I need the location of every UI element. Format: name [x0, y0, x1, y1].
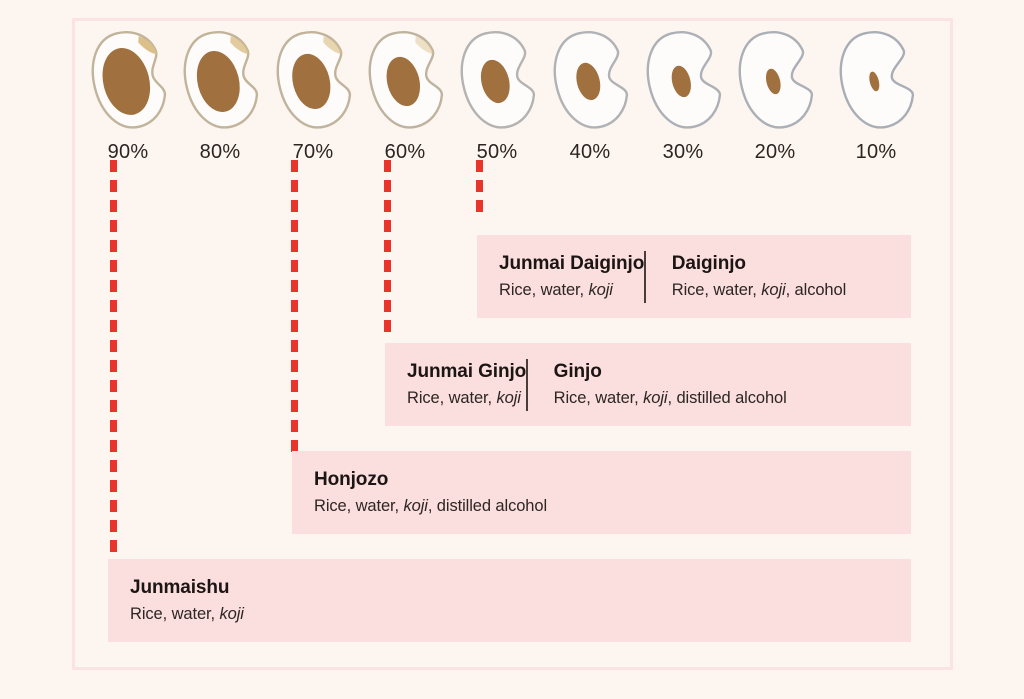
band-title-ginjo-1: Ginjo — [554, 361, 787, 383]
band-entry-daiginjo-1: DaiginjoRice, water, koji, alcohol — [646, 253, 846, 300]
band-ingredients-honjozo-0: Rice, water, koji, distilled alcohol — [314, 497, 547, 516]
band-entry-honjozo-0: HonjozoRice, water, koji, distilled alco… — [292, 469, 547, 516]
rice-grain-60 — [362, 26, 448, 134]
rice-grain-row — [0, 0, 1024, 140]
band-entry-daiginjo-0: Junmai DaiginjoRice, water, koji — [477, 253, 644, 300]
rice-grain-80 — [177, 26, 263, 134]
band-title-honjozo-0: Honjozo — [314, 469, 547, 491]
band-ingredients-ginjo-0: Rice, water, koji — [407, 389, 526, 408]
guide-50 — [476, 160, 483, 214]
band-honjozo: HonjozoRice, water, koji, distilled alco… — [292, 451, 911, 534]
band-title-junmaishu-0: Junmaishu — [130, 577, 244, 599]
percent-label-90: 90% — [82, 141, 174, 164]
rice-grain-70 — [270, 26, 356, 134]
band-inner-ginjo: Junmai GinjoRice, water, kojiGinjoRice, … — [385, 343, 911, 426]
guide-70 — [291, 160, 298, 452]
band-junmaishu: JunmaishuRice, water, koji — [108, 559, 911, 642]
band-ingredients-daiginjo-0: Rice, water, koji — [499, 281, 644, 300]
rice-grain-20 — [732, 26, 818, 134]
percent-label-80: 80% — [174, 141, 266, 164]
band-title-daiginjo-1: Daiginjo — [672, 253, 846, 275]
band-daiginjo: Junmai DaiginjoRice, water, kojiDaiginjo… — [477, 235, 911, 318]
percent-label-70: 70% — [267, 141, 359, 164]
band-inner-junmaishu: JunmaishuRice, water, koji — [108, 559, 911, 642]
percent-label-40: 40% — [544, 141, 636, 164]
band-inner-honjozo: HonjozoRice, water, koji, distilled alco… — [292, 451, 911, 534]
rice-grain-10 — [833, 26, 919, 134]
band-entry-junmaishu-0: JunmaishuRice, water, koji — [108, 577, 244, 624]
band-inner-daiginjo: Junmai DaiginjoRice, water, kojiDaiginjo… — [477, 235, 911, 318]
percent-label-20: 20% — [729, 141, 821, 164]
band-ginjo: Junmai GinjoRice, water, kojiGinjoRice, … — [385, 343, 911, 426]
percent-label-30: 30% — [637, 141, 729, 164]
percent-label-10: 10% — [830, 141, 922, 164]
guide-90 — [110, 160, 117, 558]
rice-grain-40 — [547, 26, 633, 134]
rice-grain-90 — [85, 26, 171, 134]
guide-60 — [384, 160, 391, 332]
rice-grain-30 — [640, 26, 726, 134]
band-ingredients-junmaishu-0: Rice, water, koji — [130, 605, 244, 624]
percent-label-50: 50% — [451, 141, 543, 164]
band-ingredients-ginjo-1: Rice, water, koji, distilled alcohol — [554, 389, 787, 408]
band-entry-ginjo-1: GinjoRice, water, koji, distilled alcoho… — [528, 361, 787, 408]
band-ingredients-daiginjo-1: Rice, water, koji, alcohol — [672, 281, 846, 300]
band-title-daiginjo-0: Junmai Daiginjo — [499, 253, 644, 275]
band-title-ginjo-0: Junmai Ginjo — [407, 361, 526, 383]
rice-grain-50 — [454, 26, 540, 134]
percent-label-60: 60% — [359, 141, 451, 164]
band-entry-ginjo-0: Junmai GinjoRice, water, koji — [385, 361, 526, 408]
